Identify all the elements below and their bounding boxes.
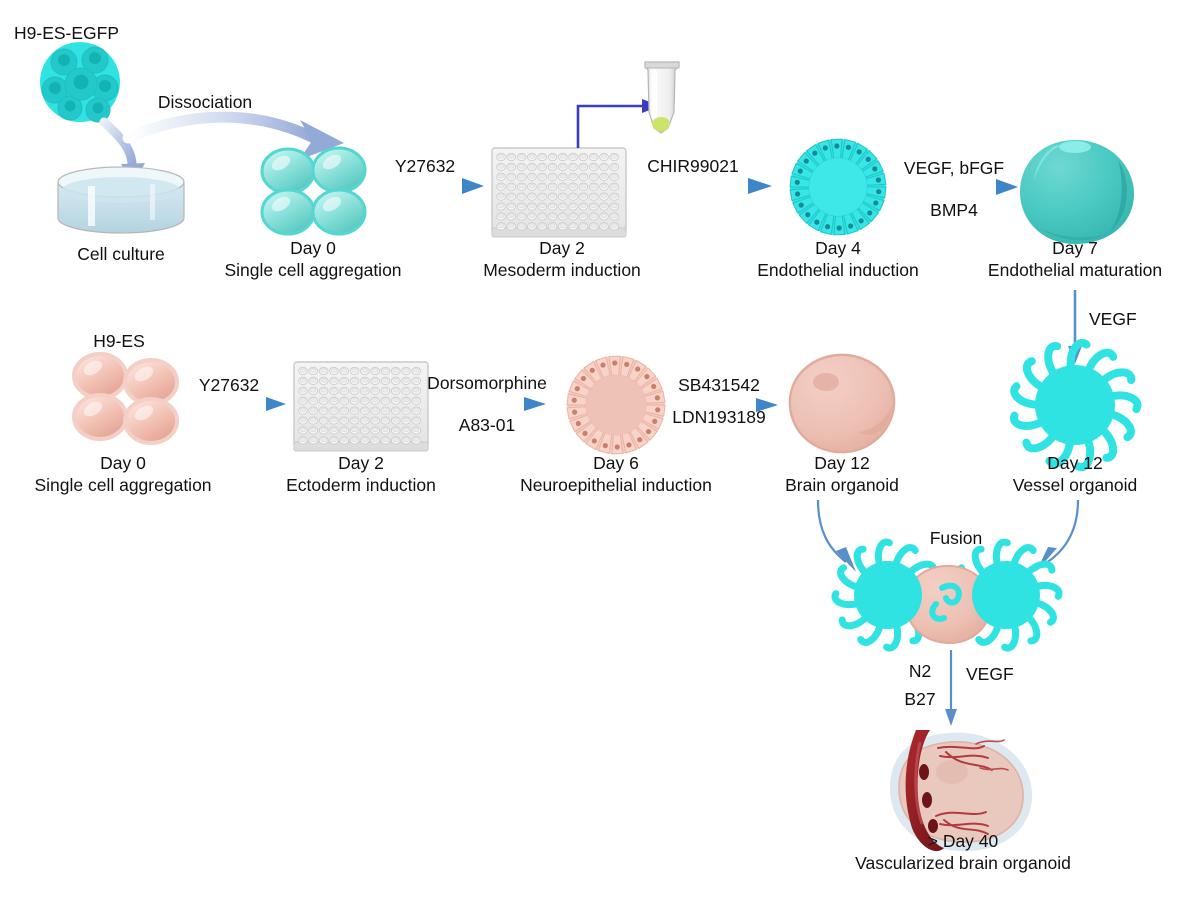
day-r2-day12-vessel: Day 12 xyxy=(1047,452,1102,474)
spiky-vessel-cyan-icon xyxy=(1014,343,1137,467)
arrow-y27632-row1 xyxy=(366,178,484,194)
caption-day7-maturation: Endothelial maturation xyxy=(988,259,1162,281)
centrifuge-tube-icon xyxy=(645,62,679,133)
arrow-plate-to-tube xyxy=(578,99,660,148)
label-dissociation: Dissociation xyxy=(158,91,252,113)
caption-final: Vascularized brain organoid xyxy=(855,852,1071,874)
rosette-pink-icon xyxy=(567,356,665,454)
rx-y27632-row2: Y27632 xyxy=(199,374,259,396)
rx-sb431542: SB431542 xyxy=(678,374,760,396)
label-h9-es: H9-ES xyxy=(93,330,145,352)
graphics-layer xyxy=(0,0,1191,897)
fusion-triplet-icon xyxy=(835,542,1059,648)
arrow-vegf-bfgf-bmp4 xyxy=(890,179,1018,195)
arrow-chir99021 xyxy=(634,178,772,194)
blob-teal-icon xyxy=(1020,140,1134,244)
day-final: > Day 40 xyxy=(928,830,999,852)
arrow-vessel-to-fusion xyxy=(1036,500,1078,572)
arrow-colony-to-dish xyxy=(104,122,145,186)
h9-es-egfp-colony-icon xyxy=(40,42,120,122)
blob-pink-icon xyxy=(790,355,894,452)
caption-day0-aggregation: Single cell aggregation xyxy=(224,259,401,281)
arrow-dissociation xyxy=(128,117,344,160)
rx-ldn193189: LDN193189 xyxy=(672,406,765,428)
arrow-y27632-row2 xyxy=(182,397,286,411)
caption-day4-endothelial: Endothelial induction xyxy=(757,259,919,281)
rx-vegf-final: VEGF xyxy=(966,663,1014,685)
well-plate-icon-row2 xyxy=(294,362,428,451)
rx-dorsomorphine: Dorsomorphine xyxy=(427,372,547,394)
day-r2-day0: Day 0 xyxy=(100,452,146,474)
petri-dish-icon xyxy=(58,167,184,233)
day-day7-maturation: Day 7 xyxy=(1052,237,1098,259)
caption-r2-day12-vessel: Vessel organoid xyxy=(1013,474,1138,496)
diagram-canvas: H9-ES-EGFP Dissociation Cell culture Day… xyxy=(0,0,1191,897)
arrow-dorsomorphine-a8301 xyxy=(434,397,546,411)
caption-r2-day2-ectoderm: Ectoderm induction xyxy=(286,474,436,496)
rx-vegf-bfgf: VEGF, bFGF xyxy=(904,157,1004,179)
arrow-brain-to-fusion xyxy=(818,500,856,572)
label-h9-es-egfp: H9-ES-EGFP xyxy=(14,22,119,44)
cell-cluster-pink-icon xyxy=(74,354,177,443)
arrow-vegf-vertical xyxy=(1068,290,1082,364)
caption-r2-day12-brain: Brain organoid xyxy=(785,474,899,496)
day-day4-endothelial: Day 4 xyxy=(815,237,861,259)
cell-cluster-cyan-icon xyxy=(262,148,365,234)
rx-b27: B27 xyxy=(904,688,935,710)
caption-cell-culture: Cell culture xyxy=(77,243,165,265)
caption-r2-day0: Single cell aggregation xyxy=(34,474,211,496)
rx-n2: N2 xyxy=(909,660,931,682)
day-day2-mesoderm: Day 2 xyxy=(539,237,585,259)
day-day0-aggregation: Day 0 xyxy=(290,237,336,259)
well-plate-icon-row1 xyxy=(492,148,626,237)
rx-y27632-row1: Y27632 xyxy=(395,155,455,177)
day-r2-day2-ectoderm: Day 2 xyxy=(338,452,384,474)
rosette-cyan-icon xyxy=(790,139,886,235)
label-fusion: Fusion xyxy=(930,527,983,549)
rx-vegf-vertical: VEGF xyxy=(1089,308,1137,330)
arrow-fusion-to-final xyxy=(945,650,957,726)
caption-r2-day6-neuro: Neuroepithelial induction xyxy=(520,474,712,496)
day-r2-day12-brain: Day 12 xyxy=(814,452,869,474)
rx-a83-01: A83-01 xyxy=(459,414,515,436)
rx-chir99021: CHIR99021 xyxy=(647,155,738,177)
rx-bmp4: BMP4 xyxy=(930,199,978,221)
caption-day2-mesoderm: Mesoderm induction xyxy=(483,259,641,281)
day-r2-day6-neuro: Day 6 xyxy=(593,452,639,474)
